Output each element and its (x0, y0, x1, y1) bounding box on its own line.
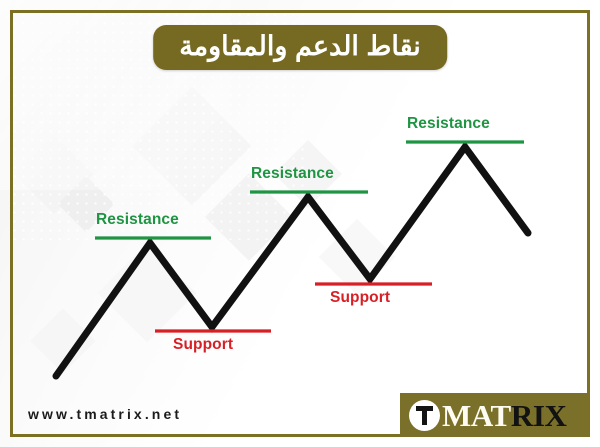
poster-canvas: نقاط الدعم والمقاومة ResistanceSupportRe… (0, 0, 600, 447)
brand-wordmark-light: MAT (442, 398, 511, 433)
brand-wordmark-dark: RIX (511, 398, 567, 433)
site-url-text: www.tmatrix.net (28, 406, 182, 422)
support-resistance-chart (0, 0, 600, 447)
resistance-label: Resistance (251, 165, 334, 183)
resistance-label: Resistance (96, 211, 179, 229)
brand-logo-badge: MATRIX (400, 393, 587, 437)
support-label: Support (173, 336, 233, 354)
brand-wordmark: MATRIX (442, 400, 566, 431)
circle-t-icon (409, 400, 440, 431)
resistance-label: Resistance (407, 115, 490, 133)
support-label: Support (330, 289, 390, 307)
